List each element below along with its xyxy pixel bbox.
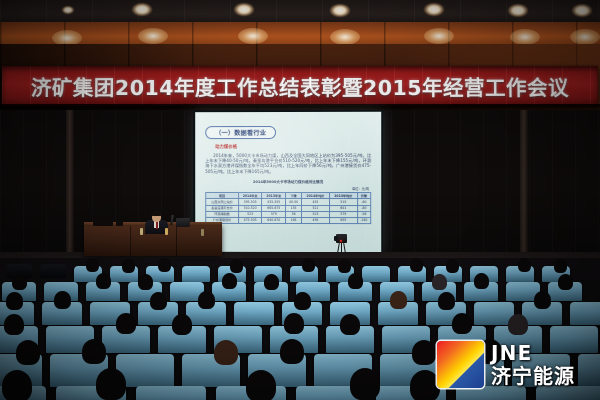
audience-head [338, 259, 351, 273]
table-row: 广州港接货价 475-505 640-670 165 495 655 -160 [206, 217, 371, 223]
desk-equipment [116, 220, 123, 226]
chair-back [362, 266, 390, 282]
audience-head [446, 259, 459, 273]
audience-head [412, 340, 436, 365]
audience-head [222, 273, 237, 289]
wall-light-reflection [238, 28, 268, 44]
desk-panel-seam [130, 226, 131, 256]
slide-table-unit: 单位：元/吨 [205, 186, 371, 191]
audience-head [82, 339, 106, 364]
audience-head [390, 291, 407, 309]
audience-head [350, 368, 380, 400]
water-bottle-icon [140, 228, 143, 235]
table-cell: 165 [286, 217, 302, 223]
chair-back [234, 302, 274, 325]
brand-chinese-name: 济宁能源 [491, 366, 575, 386]
slide-content: （一）数据看行业 动力煤价格 2014年来，5000大卡市场动力煤，山西及全国大… [195, 112, 381, 252]
audience-head [54, 291, 71, 309]
audience-head [172, 314, 192, 335]
desk-panel-seam [176, 226, 177, 256]
audience-head [438, 292, 455, 310]
audience-head [6, 292, 23, 310]
table-cell: 495 [302, 217, 330, 223]
wall-pillar [66, 110, 74, 255]
audience-head [138, 274, 153, 290]
audience-head [246, 370, 276, 400]
table-cell: -160 [357, 217, 370, 223]
audience-head [554, 259, 567, 273]
audience-head [150, 292, 167, 310]
slide-table-caption: 2014年5000大卡市场动力煤价格对比情况 [205, 180, 371, 185]
wall-light-reflection [424, 28, 454, 44]
jne-logo-icon [437, 341, 484, 388]
wall-light-reflection [510, 29, 540, 45]
slide-data-table: 项目 2014年末 2013年末 下降 2014年均价 2013年均价 升降 山… [205, 192, 371, 224]
wall-light-reflection [138, 28, 168, 44]
table-cell: 640-670 [262, 217, 286, 223]
water-bottle-icon [201, 229, 204, 236]
wall-light-reflection [570, 29, 600, 45]
laptop-icon [176, 218, 190, 227]
audience-head [264, 274, 279, 290]
audience-head [116, 313, 136, 334]
audience-head [410, 258, 423, 272]
audience-head [122, 259, 135, 273]
audience-head [2, 370, 32, 400]
slide-paragraph: 2014年来，5000大卡市场动力煤，山西及全国大同地区上站价为395-505元… [205, 152, 371, 174]
chair-back [536, 386, 600, 400]
ceiling-light-icon [234, 3, 254, 16]
projection-slide: （一）数据看行业 动力煤价格 2014年来，5000大卡市场动力煤，山西及全国大… [195, 112, 381, 252]
audience-head [432, 274, 447, 290]
audience-head [452, 313, 472, 334]
chair-back [456, 386, 526, 400]
chair-back [182, 266, 210, 282]
slide-title: （一）数据看行业 [205, 126, 276, 139]
audience-head [284, 313, 304, 334]
chair-back [570, 302, 600, 325]
water-bottle-icon [165, 228, 168, 235]
watermark-text: JNE 济宁能源 [491, 343, 575, 386]
logo-swoosh-shape [437, 341, 484, 388]
audience-head [214, 340, 238, 365]
audience-head [410, 370, 440, 400]
chair-back [40, 264, 66, 278]
audience-head [534, 291, 551, 309]
audience-head [158, 258, 171, 272]
conference-banner: 济矿集团2014年度工作总结表彰暨2015年经营工作会议 [2, 66, 598, 106]
audience-head [16, 340, 40, 365]
wall-light-reflection [330, 29, 360, 45]
camera-lens-icon [334, 236, 338, 241]
slide-subheading: 动力煤价格 [205, 144, 371, 150]
audience-head [508, 314, 528, 335]
audience-head [518, 258, 531, 272]
audience-head [302, 258, 315, 272]
audience-head [558, 274, 573, 290]
audience-head [348, 273, 363, 289]
banner-title: 济矿集团2014年度工作总结表彰暨2015年经营工作会议 [31, 71, 569, 101]
ceiling-light-icon [62, 6, 74, 14]
ceiling-light-icon [508, 4, 528, 17]
audience-head [4, 314, 24, 335]
table-cell: 475-505 [238, 217, 262, 223]
conference-photo: 济矿集团2014年度工作总结表彰暨2015年经营工作会议 （一）数据看行业 动力… [0, 0, 600, 400]
audience-head [230, 259, 243, 273]
wall-pillar [520, 110, 528, 255]
audience-head [12, 274, 27, 290]
chair-back [578, 354, 600, 387]
audience-head [96, 368, 126, 400]
watermark-logo: JNE 济宁能源 [437, 341, 575, 388]
speaker-hair [151, 210, 162, 216]
audience-head [96, 273, 111, 289]
audience-head [280, 339, 304, 364]
audience-head [294, 292, 311, 310]
audience-head [340, 314, 360, 335]
table-cell: 655 [329, 217, 357, 223]
speaker-tie [156, 221, 158, 229]
ceiling-light-icon [572, 4, 592, 17]
ceiling-light-icon [132, 3, 152, 16]
ceiling-light-icon [330, 4, 350, 17]
audience-head [474, 273, 489, 289]
audience-head [198, 291, 215, 309]
audience-head [86, 258, 99, 272]
brand-latin-name: JNE [491, 343, 575, 363]
desk-equipment [93, 218, 113, 226]
ceiling-light-icon [424, 3, 444, 16]
chair-back [136, 386, 206, 400]
